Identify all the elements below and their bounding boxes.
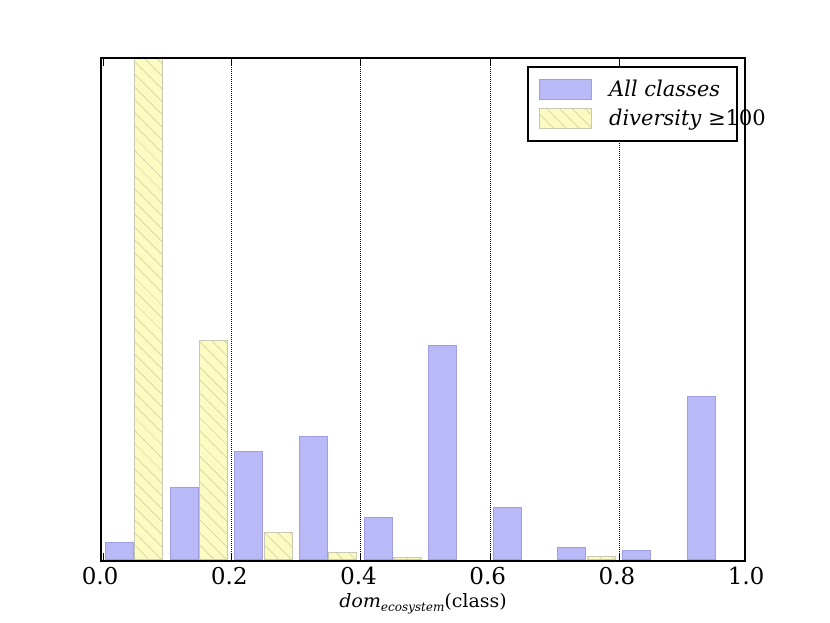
bar-all-classes-6 <box>493 507 522 560</box>
bar-diversity-3 <box>328 552 357 560</box>
tick-mark-bottom-0.2 <box>231 553 232 560</box>
legend-label-diversity: diversity ≥100 <box>609 108 766 129</box>
gridline-x-0.4 <box>360 59 361 560</box>
legend-label-all-classes: All classes <box>609 79 720 100</box>
bar-all-classes-1 <box>170 487 199 560</box>
histogram-figure: 0.00.20.40.60.81.0 domecosystem(class) A… <box>0 0 830 623</box>
legend-swatch-all-classes <box>539 79 592 100</box>
bar-diversity-7 <box>587 556 616 560</box>
legend-label-all-classes-text: All classes <box>609 77 720 101</box>
legend-item-all-classes: All classes <box>539 75 724 104</box>
tick-mark-bottom-0.4 <box>360 553 361 560</box>
tick-mark-top-0.4 <box>360 59 361 66</box>
bar-all-classes-4 <box>364 517 393 560</box>
bar-diversity-1 <box>199 340 228 560</box>
tick-mark-top-0.8 <box>619 59 620 66</box>
legend-label-diversity-text: diversity ≥ <box>609 106 726 130</box>
x-axis-title: domecosystem(class) <box>339 592 506 613</box>
legend-box: All classes diversity ≥100 <box>527 66 738 142</box>
x-tick-label-0.2: 0.2 <box>211 566 248 589</box>
bar-all-classes-7 <box>557 547 586 560</box>
gridline-x-0.2 <box>231 59 232 560</box>
tick-mark-bottom-0.6 <box>490 553 491 560</box>
bar-all-classes-9 <box>687 396 716 560</box>
bar-diversity-0 <box>134 59 163 560</box>
legend-swatch-diversity <box>539 108 592 129</box>
bar-all-classes-8 <box>622 550 651 560</box>
tick-mark-top-0.0 <box>103 59 104 66</box>
x-tick-label-0.6: 0.6 <box>469 566 506 589</box>
tick-mark-top-0.2 <box>231 59 232 66</box>
x-tick-label-0.8: 0.8 <box>599 566 636 589</box>
x-tick-label-1.0: 1.0 <box>728 566 765 589</box>
x-tick-label-0.4: 0.4 <box>340 566 377 589</box>
x-axis-title-suffix: (class) <box>444 590 506 612</box>
tick-mark-bottom-0.8 <box>619 553 620 560</box>
tick-mark-bottom-0.0 <box>103 553 104 560</box>
legend-item-diversity: diversity ≥100 <box>539 104 724 133</box>
tick-mark-top-0.6 <box>490 59 491 66</box>
x-tick-label-0.0: 0.0 <box>82 566 119 589</box>
bar-all-classes-3 <box>299 436 328 560</box>
bar-diversity-4 <box>393 557 422 560</box>
bar-all-classes-2 <box>234 451 263 560</box>
x-axis-title-subscript: ecosystem <box>381 600 444 614</box>
bar-diversity-2 <box>264 532 293 560</box>
gridline-x-0.6 <box>490 59 491 560</box>
x-axis-title-base: dom <box>339 590 381 612</box>
legend-label-diversity-value: 100 <box>726 106 766 130</box>
bar-all-classes-5 <box>428 345 457 560</box>
bar-all-classes-0 <box>105 542 134 560</box>
